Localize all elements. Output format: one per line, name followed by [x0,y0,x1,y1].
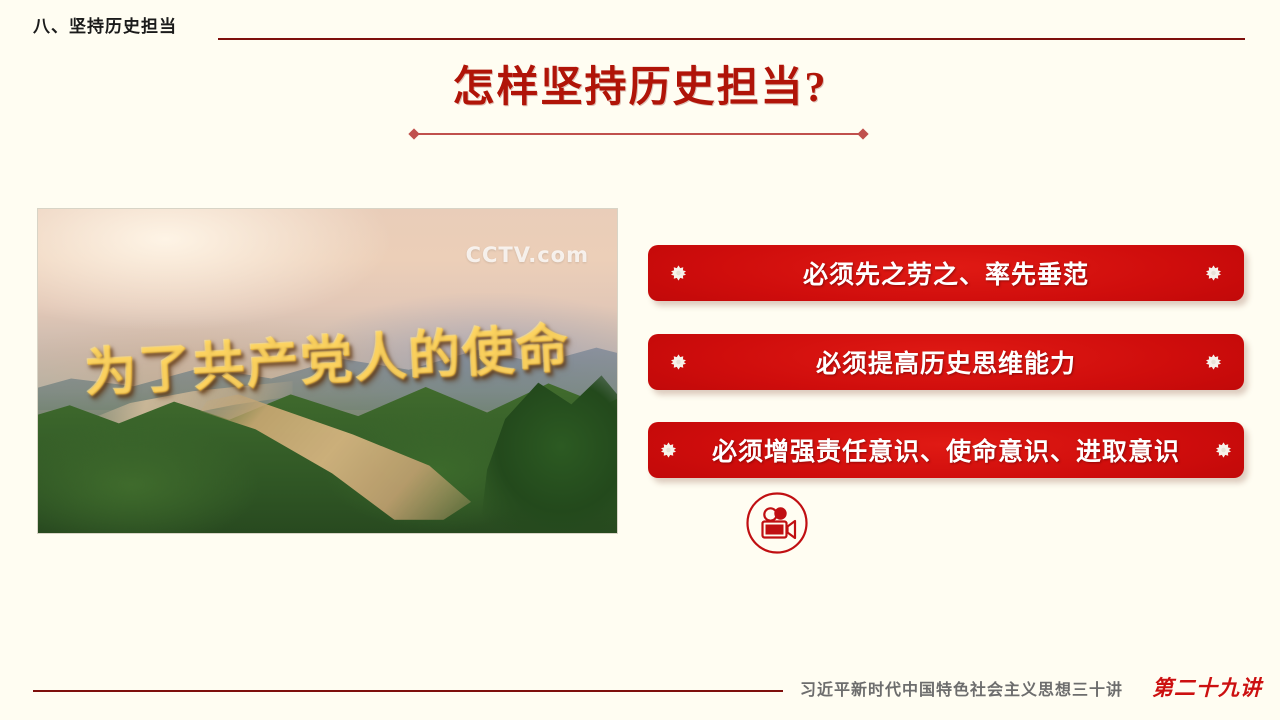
video-thumbnail[interactable]: 为了共产党人的使命 CCTV.com [37,208,618,534]
footer-lecture-number: 第二十九讲 [1152,672,1262,702]
flower-ornament-icon [660,442,677,459]
key-point-bar-1[interactable]: 必须先之劳之、率先垂范 [648,245,1244,301]
key-point-label: 必须先之劳之、率先垂范 [803,255,1089,291]
page-title: 怎样坚持历史担当? [0,62,1280,114]
section-label: 八、坚持历史担当 [33,12,177,42]
flower-ornament-icon [670,265,687,282]
key-point-label: 必须提高历史思维能力 [816,344,1076,380]
slide-root: 八、坚持历史担当 怎样坚持历史担当? 为了共产党人的使命 CCTV.com [0,0,1280,720]
title-divider [410,130,867,139]
key-point-bar-2[interactable]: 必须提高历史思维能力 [648,334,1244,390]
flower-ornament-icon [1215,442,1232,459]
cctv-watermark: CCTV.com [466,243,589,267]
video-camera-icon[interactable] [745,491,809,555]
flower-ornament-icon [670,354,687,371]
key-point-label: 必须增强责任意识、使命意识、进取意识 [712,432,1180,468]
slide-header: 八、坚持历史担当 [0,12,1280,42]
footer-series-title: 习近平新时代中国特色社会主义思想三十讲 [800,676,1123,700]
header-divider [218,38,1245,40]
flower-ornament-icon [1205,354,1222,371]
title-divider-right-diamond [857,128,868,139]
title-divider-line [415,133,862,135]
footer-divider [33,690,783,692]
flower-ornament-icon [1205,265,1222,282]
title-block: 怎样坚持历史担当? [0,62,1280,114]
key-point-bar-3[interactable]: 必须增强责任意识、使命意识、进取意识 [648,422,1244,478]
